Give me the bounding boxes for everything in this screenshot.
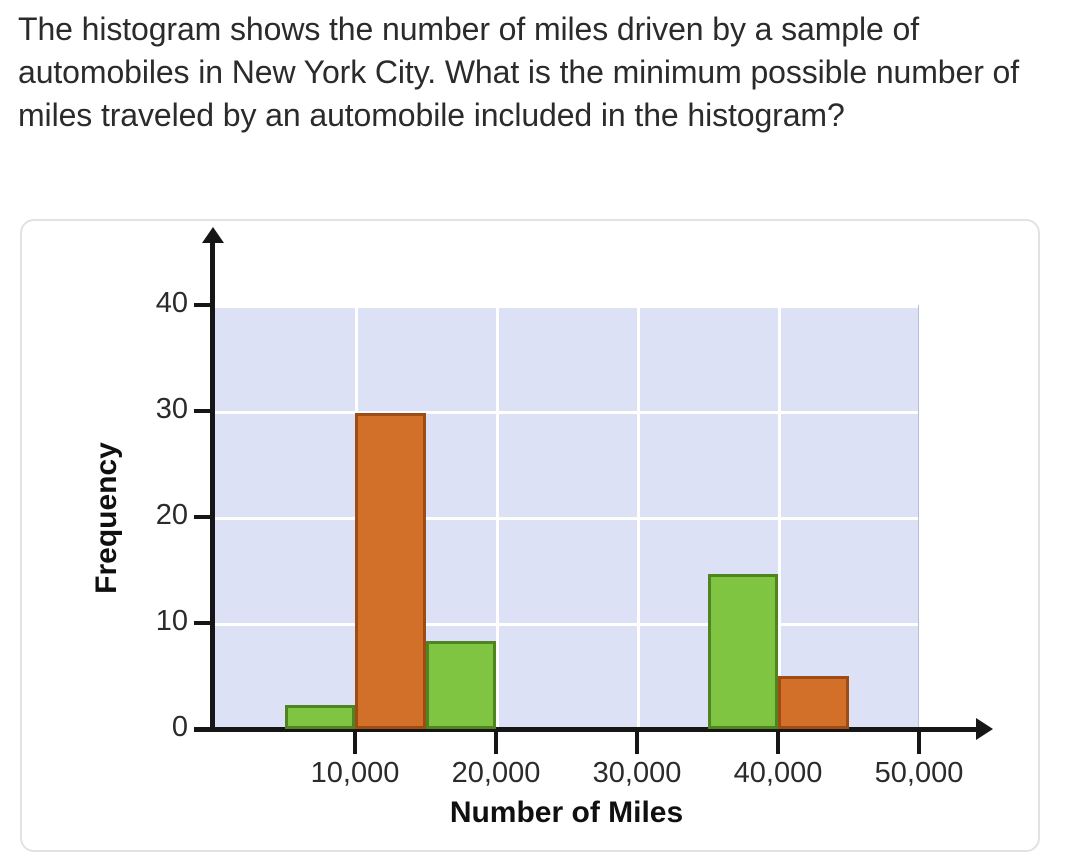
y-tick-label: 40	[128, 287, 188, 320]
y-tick-label: 30	[128, 393, 188, 426]
gridline-vertical	[778, 306, 781, 728]
y-tick-label-wrapper: 10	[122, 605, 188, 639]
y-tick-label-wrapper: 40	[122, 287, 188, 321]
y-tick-mark	[194, 515, 214, 519]
x-tick-mark	[917, 732, 921, 754]
x-tick-mark	[494, 732, 498, 754]
histogram-bar	[426, 641, 497, 729]
figure-card: 010203040 10,00020,00030,00040,00050,000…	[20, 219, 1040, 852]
y-tick-mark	[194, 409, 214, 413]
histogram-chart: 010203040 10,00020,00030,00040,00050,000…	[22, 221, 1038, 850]
y-axis-arrow-icon	[202, 227, 224, 243]
y-tick-label-wrapper: 20	[122, 499, 188, 533]
gridline-horizontal	[215, 517, 918, 520]
y-tick-mark	[194, 303, 214, 307]
y-axis-title: Frequency	[90, 378, 124, 658]
x-axis-arrow-icon	[976, 718, 993, 740]
histogram-bar	[778, 676, 849, 729]
y-axis-line	[210, 240, 215, 732]
y-tick-label: 0	[128, 711, 188, 744]
histogram-bar	[285, 705, 356, 729]
y-tick-mark	[194, 727, 214, 731]
x-tick-mark	[635, 732, 639, 754]
x-tick-mark	[776, 732, 780, 754]
y-tick-label-wrapper: 0	[122, 711, 188, 745]
histogram-bar	[355, 413, 426, 729]
question-prompt: The histogram shows the number of miles …	[18, 8, 1058, 137]
gridline-vertical	[496, 306, 499, 728]
y-tick-label: 10	[128, 605, 188, 638]
gridline-horizontal	[215, 305, 918, 308]
y-tick-label: 20	[128, 499, 188, 532]
histogram-bar	[708, 574, 779, 729]
gridline-vertical	[637, 306, 640, 728]
gridline-horizontal	[215, 623, 918, 626]
gridline-horizontal	[215, 411, 918, 414]
y-tick-mark	[194, 621, 214, 625]
plot-area	[214, 305, 919, 729]
y-tick-label-wrapper: 30	[122, 393, 188, 427]
x-tick-mark	[353, 732, 357, 754]
x-axis-title: Number of Miles	[214, 796, 919, 830]
x-tick-label: 50,000	[819, 757, 1019, 790]
